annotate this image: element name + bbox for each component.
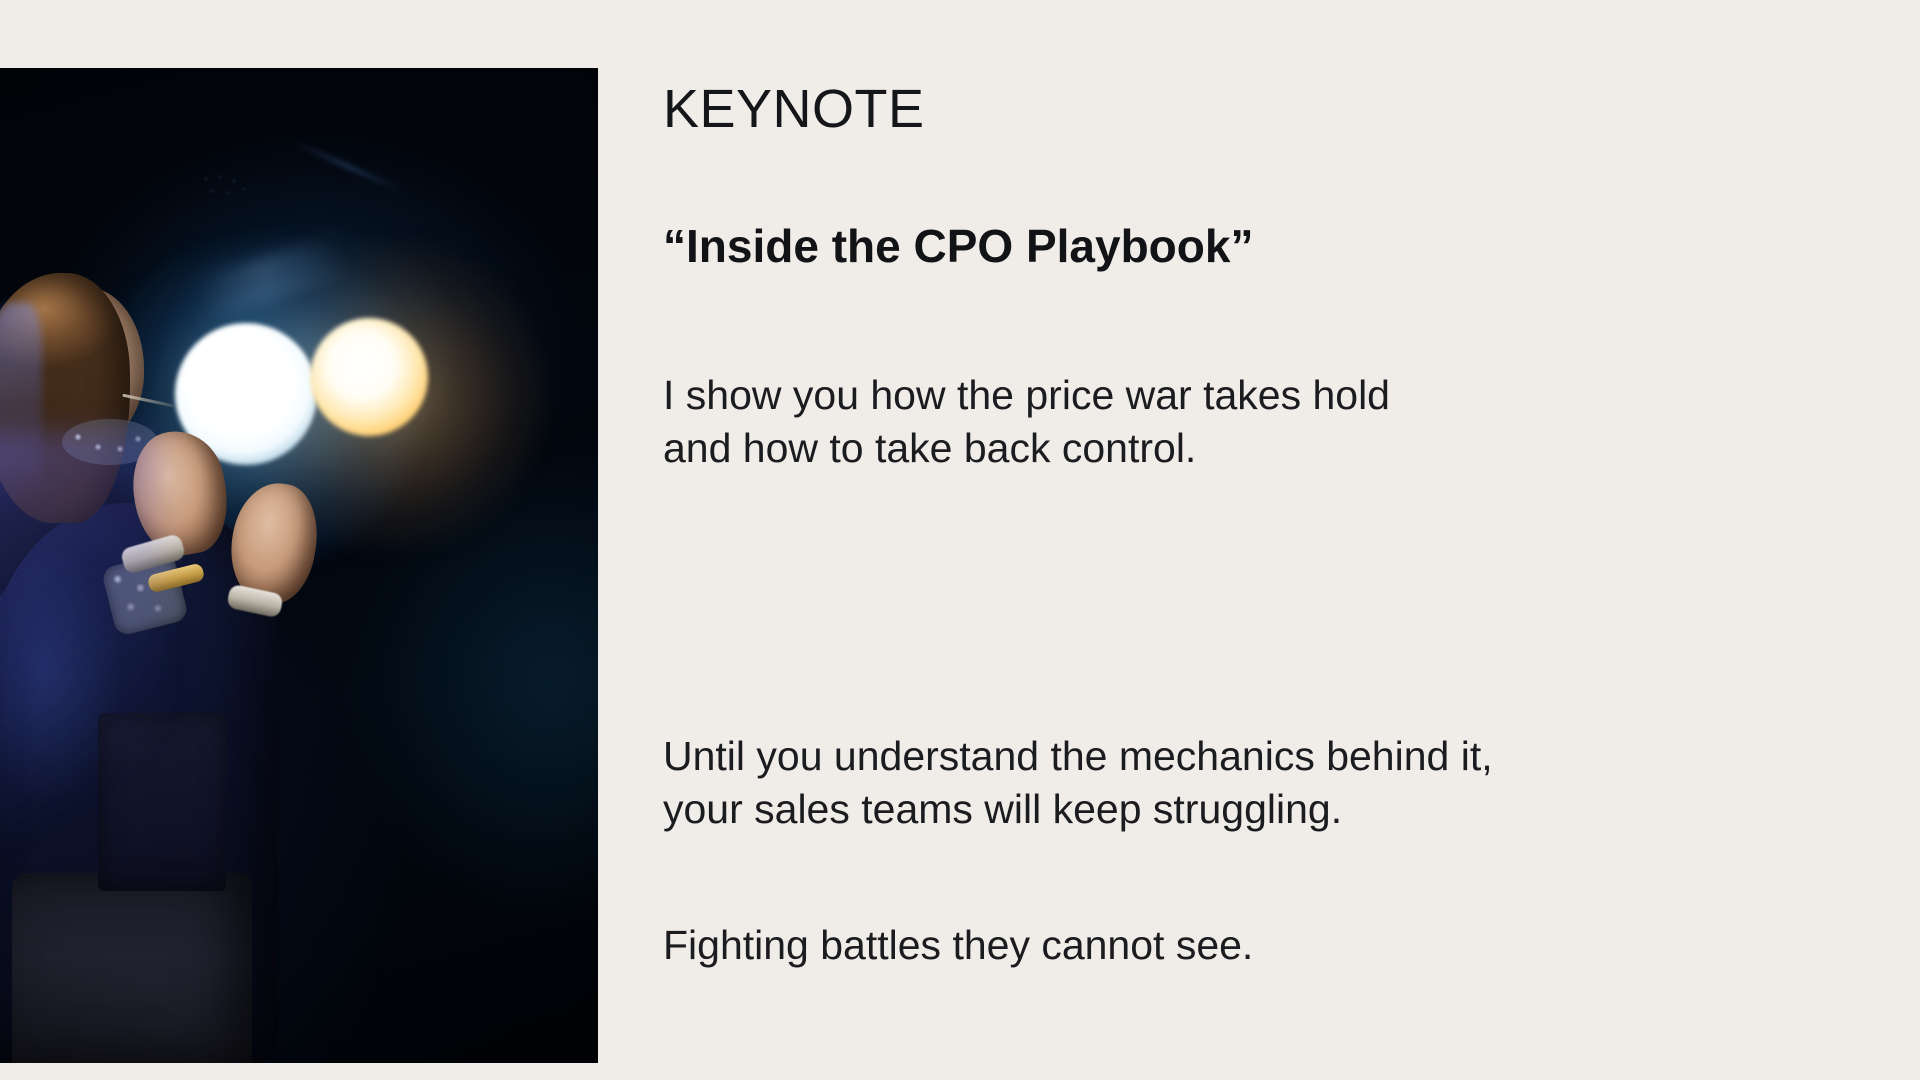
speaker-figure: [0, 273, 350, 1063]
body-paragraph-1: I show you how the price war takes hold …: [663, 369, 1390, 476]
keynote-slide: KEYNOTE “Inside the CPO Playbook” I show…: [0, 0, 1920, 1080]
speaker-jacket-panel: [98, 713, 226, 891]
body-paragraph-2-line-2: your sales teams will keep struggling.: [663, 783, 1493, 836]
text-column: KEYNOTE “Inside the CPO Playbook” I show…: [663, 0, 1843, 1080]
body-paragraph-1-line-1: I show you how the price war takes hold: [663, 369, 1390, 422]
speaker-hair-rim-light: [0, 303, 42, 533]
body-paragraph-1-line-2: and how to take back control.: [663, 422, 1390, 475]
talk-title: “Inside the CPO Playbook”: [663, 221, 1253, 272]
body-paragraph-3-line-1: Fighting battles they cannot see.: [663, 919, 1253, 972]
lens-flare-dots: [200, 173, 260, 207]
body-paragraph-2-line-1: Until you understand the mechanics behin…: [663, 730, 1493, 783]
speaker-photo: [0, 68, 598, 1063]
body-paragraph-2: Until you understand the mechanics behin…: [663, 730, 1493, 837]
body-paragraph-3: Fighting battles they cannot see.: [663, 919, 1253, 972]
keynote-eyebrow-label: KEYNOTE: [663, 82, 925, 136]
speaker-skirt: [12, 873, 252, 1063]
